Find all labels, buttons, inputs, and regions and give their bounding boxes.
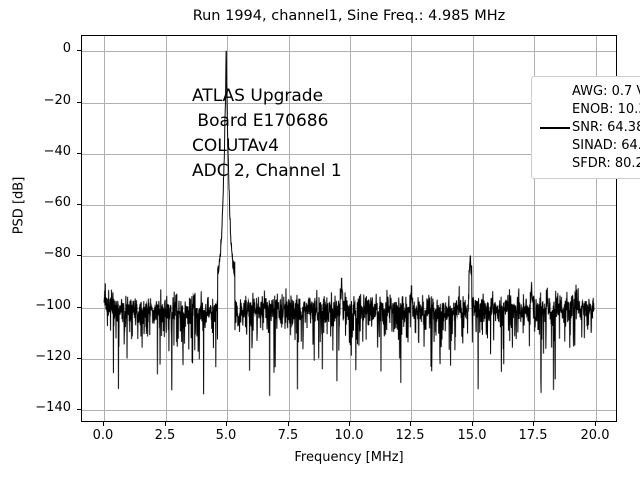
legend-entry: AWG: 0.7 Vpp	[538, 82, 640, 100]
legend-label: SINAD: 64.21 dB	[572, 138, 640, 153]
y-tick-mark	[77, 204, 81, 205]
y-tick-label: −120	[0, 349, 71, 364]
annotation-line: ADC 2, Channel 1	[192, 159, 342, 184]
x-tick-label: 0.0	[73, 428, 133, 443]
psd-figure: Run 1994, channel1, Sine Freq.: 4.985 MH…	[0, 0, 640, 480]
x-tick-label: 20.0	[565, 428, 625, 443]
legend-label: SNR: 64.38 dB	[572, 120, 640, 135]
x-tick-label: 7.5	[258, 428, 318, 443]
plot-axes: ATLAS Upgrade Board E170686COLUTAv4ADC 2…	[81, 35, 617, 422]
x-tick-mark	[288, 422, 289, 426]
legend-label: SFDR: 80.26	[572, 156, 640, 171]
y-tick-label: −100	[0, 298, 71, 313]
annotation-line: COLUTAv4	[192, 134, 342, 159]
y-tick-label: −20	[0, 93, 71, 108]
legend-spacer	[538, 82, 572, 100]
y-tick-mark	[77, 153, 81, 154]
legend-entry: SINAD: 64.21 dB	[538, 136, 640, 154]
x-tick-label: 2.5	[135, 428, 195, 443]
legend-spacer	[538, 136, 572, 154]
legend-line-sample	[538, 118, 572, 136]
y-tick-label: 0	[0, 41, 71, 56]
legend-spacer	[538, 100, 572, 118]
y-tick-mark	[77, 255, 81, 256]
y-tick-mark	[77, 102, 81, 103]
x-tick-mark	[410, 422, 411, 426]
x-tick-label: 12.5	[380, 428, 440, 443]
annotation-line: Board E170686	[192, 109, 342, 134]
y-tick-mark	[77, 307, 81, 308]
legend-entry: SNR: 64.38 dB	[538, 118, 640, 136]
x-tick-mark	[472, 422, 473, 426]
legend-box: AWG: 0.7 VppENOB: 10.37 bitsSNR: 64.38 d…	[531, 76, 640, 179]
x-tick-mark	[595, 422, 596, 426]
y-tick-mark	[77, 409, 81, 410]
y-tick-mark	[77, 358, 81, 359]
x-tick-mark	[103, 422, 104, 426]
x-tick-label: 10.0	[319, 428, 379, 443]
y-tick-mark	[77, 50, 81, 51]
annotation-text: ATLAS Upgrade Board E170686COLUTAv4ADC 2…	[192, 84, 342, 184]
legend-label: ENOB: 10.37 bits	[572, 102, 640, 117]
legend-entry: ENOB: 10.37 bits	[538, 100, 640, 118]
legend-label: AWG: 0.7 Vpp	[572, 84, 640, 99]
legend-entry: SFDR: 80.26	[538, 154, 640, 172]
x-axis-label: Frequency [MHz]	[81, 450, 617, 465]
x-tick-mark	[349, 422, 350, 426]
x-tick-mark	[165, 422, 166, 426]
y-tick-label: −140	[0, 400, 71, 415]
x-tick-label: 17.5	[503, 428, 563, 443]
legend-spacer	[538, 154, 572, 172]
page-title: Run 1994, channel1, Sine Freq.: 4.985 MH…	[81, 8, 617, 24]
x-tick-mark	[226, 422, 227, 426]
annotation-line: ATLAS Upgrade	[192, 84, 342, 109]
y-axis-label: PSD [dB]	[12, 146, 27, 266]
x-tick-mark	[533, 422, 534, 426]
x-tick-label: 15.0	[442, 428, 502, 443]
x-tick-label: 5.0	[196, 428, 256, 443]
